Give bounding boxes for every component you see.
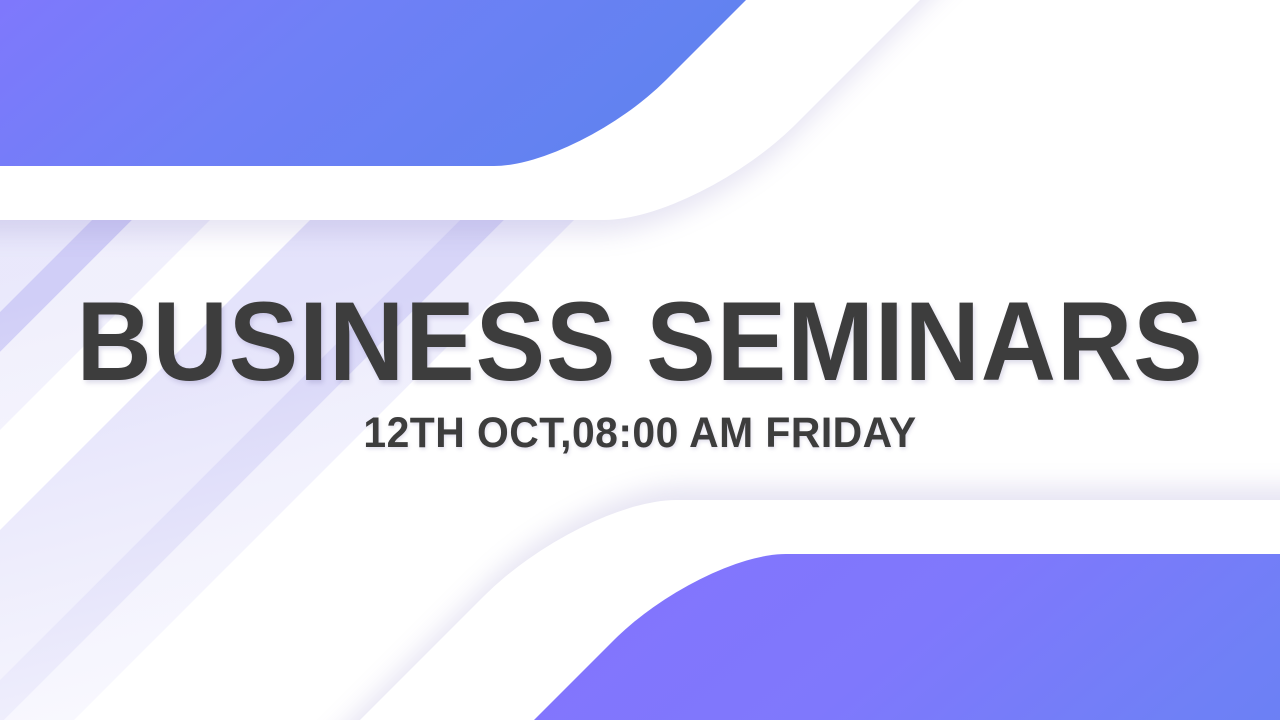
event-title: BUSINESS SEMINARS xyxy=(45,286,1235,398)
event-poster: BUSINESS SEMINARS 12TH OCT,08:00 AM FRID… xyxy=(0,0,1280,720)
event-subtitle: 12TH OCT,08:00 AM FRIDAY xyxy=(32,412,1248,455)
poster-text-block: BUSINESS SEMINARS 12TH OCT,08:00 AM FRID… xyxy=(0,286,1280,455)
